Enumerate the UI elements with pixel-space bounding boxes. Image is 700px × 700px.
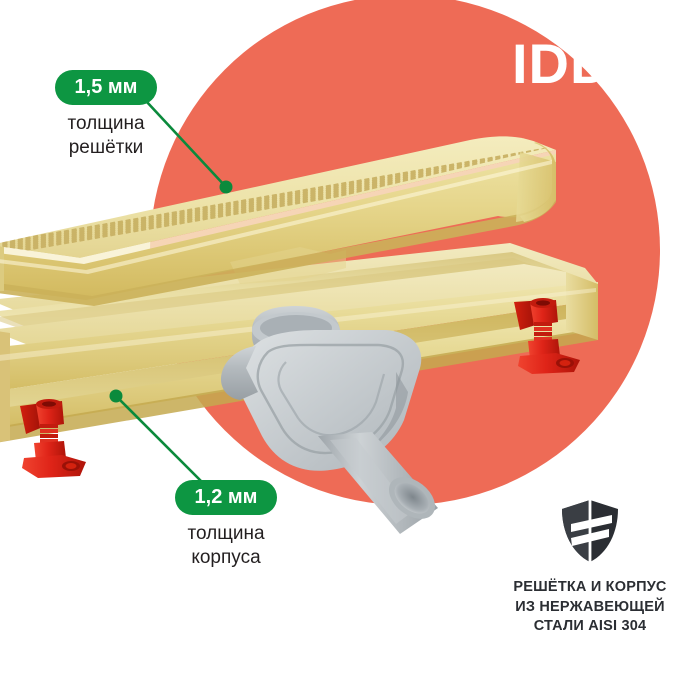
stainless-steel-caption: РЕШЁТКА И КОРПУС ИЗ НЕРЖАВЕЮЩЕЙ СТАЛИ AI… xyxy=(498,578,682,637)
body-thickness-value: 1,2 мм xyxy=(175,480,278,515)
body-thickness-caption: толщина корпуса xyxy=(163,522,289,570)
callout-grate-thickness: 1,5 мм толщина решётки xyxy=(46,70,166,160)
registered-trademark-icon: ® xyxy=(672,38,684,53)
brand-name: IDDIS xyxy=(512,32,666,95)
callout-body-thickness: 1,2 мм толщина корпуса xyxy=(163,480,289,570)
grate-thickness-caption: толщина решётки xyxy=(46,112,166,160)
brand-logo: IDDIS ® xyxy=(512,36,666,92)
leader-line-body xyxy=(116,396,207,487)
leader-endpoint-grate xyxy=(220,181,233,194)
shield-icon xyxy=(559,498,621,564)
stainless-steel-badge: РЕШЁТКА И КОРПУС ИЗ НЕРЖАВЕЮЩЕЙ СТАЛИ AI… xyxy=(498,498,682,637)
leader-endpoint-body xyxy=(110,390,123,403)
grate-thickness-value: 1,5 мм xyxy=(55,70,158,105)
product-illustration: IDDIS ® 1,5 мм толщина решётки 1,2 мм то… xyxy=(0,0,700,700)
